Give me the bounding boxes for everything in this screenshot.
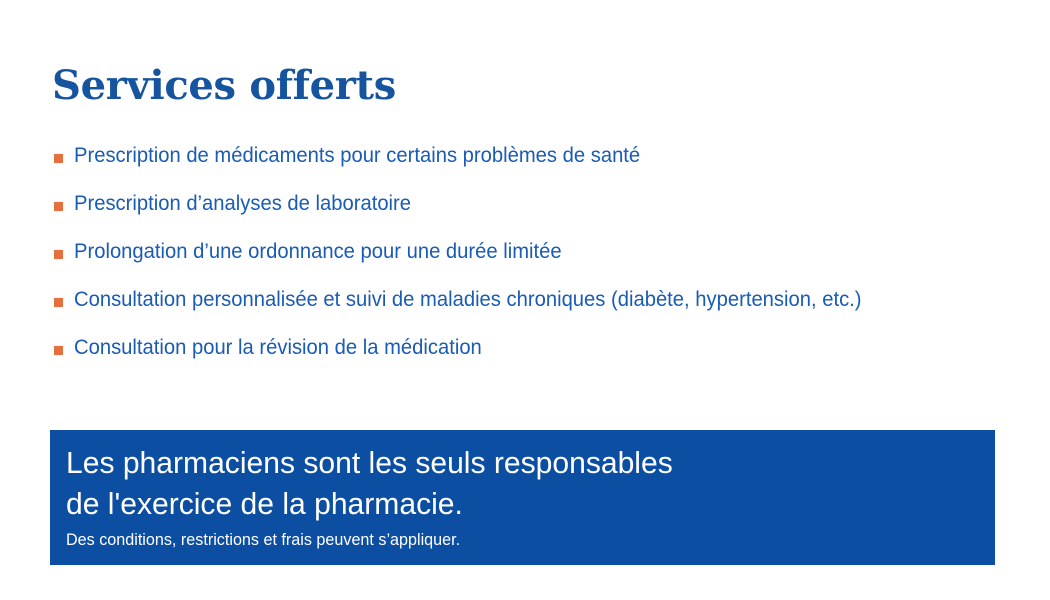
list-item: Prescription d’analyses de laboratoire: [52, 188, 1032, 236]
square-bullet-icon: [54, 298, 63, 307]
page-title: Services offerts: [52, 62, 396, 110]
services-bullet-list: Prescription de médicaments pour certain…: [52, 140, 1032, 380]
list-item: Prolongation d’une ordonnance pour une d…: [52, 236, 1032, 284]
callout-headline-line-1: Les pharmaciens sont les seuls responsab…: [66, 442, 967, 483]
square-bullet-icon: [54, 250, 63, 259]
list-item-label: Consultation pour la révision de la médi…: [74, 332, 482, 362]
callout-headline-line-2: de l'exercice de la pharmacie.: [66, 483, 967, 524]
list-item-label: Prescription de médicaments pour certain…: [74, 140, 640, 170]
list-item: Prescription de médicaments pour certain…: [52, 140, 1032, 188]
list-item: Consultation personnalisée et suivi de m…: [52, 284, 1032, 332]
square-bullet-icon: [54, 202, 63, 211]
callout-disclaimer-note: Des conditions, restrictions et frais pe…: [66, 529, 949, 551]
presentation-slide: Services offerts Prescription de médicam…: [0, 0, 1050, 600]
square-bullet-icon: [54, 154, 63, 163]
highlight-callout-box: Les pharmaciens sont les seuls responsab…: [50, 430, 995, 565]
list-item-label: Consultation personnalisée et suivi de m…: [74, 284, 862, 314]
list-item-label: Prolongation d’une ordonnance pour une d…: [74, 236, 562, 266]
callout-headline: Les pharmaciens sont les seuls responsab…: [66, 442, 967, 524]
list-item: Consultation pour la révision de la médi…: [52, 332, 1032, 380]
square-bullet-icon: [54, 346, 63, 355]
list-item-label: Prescription d’analyses de laboratoire: [74, 188, 411, 218]
